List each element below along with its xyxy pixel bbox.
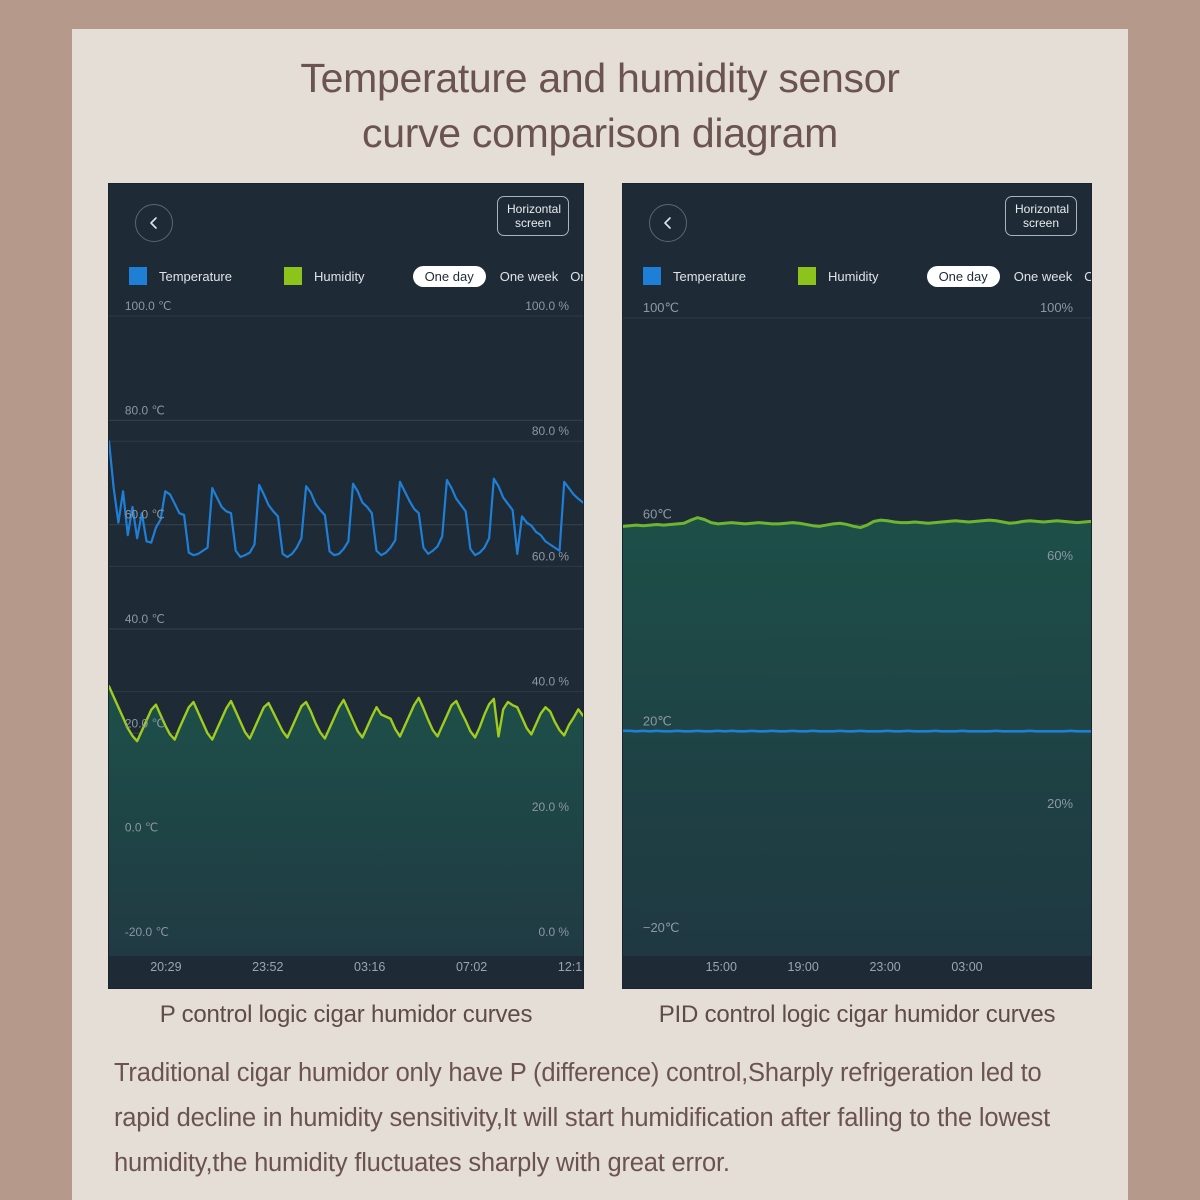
svg-text:40.0 ℃: 40.0 ℃ — [125, 612, 165, 626]
chevron-left-icon — [661, 215, 675, 231]
svg-text:20.0 ℃: 20.0 ℃ — [125, 716, 165, 730]
description-paragraph: Traditional cigar humidor only have P (d… — [72, 1029, 1128, 1186]
svg-text:20.0 %: 20.0 % — [532, 800, 570, 814]
x-tick-label: 20:29 — [150, 960, 181, 974]
x-tick-label: 03:00 — [951, 960, 982, 974]
captions-row: P control logic cigar humidor curves PID… — [72, 1001, 1128, 1029]
horizontal-screen-label-line2: screen — [507, 216, 559, 230]
horizontal-screen-button[interactable]: Horizontal screen — [1005, 196, 1077, 236]
page-title-line2: curve comparison diagram — [72, 106, 1128, 161]
legend-label-temperature: Temperature — [159, 269, 232, 284]
charts-row: Horizontal screen Temperature Humidity O… — [72, 183, 1128, 989]
left-legend-and-tabs: Temperature Humidity One day One week On… — [109, 256, 583, 296]
svg-text:80.0 %: 80.0 % — [532, 424, 570, 438]
horizontal-screen-button[interactable]: Horizontal screen — [497, 196, 569, 236]
svg-text:0.0 %: 0.0 % — [539, 925, 570, 939]
svg-text:60.0 %: 60.0 % — [532, 549, 570, 563]
svg-text:100.0 ℃: 100.0 ℃ — [125, 299, 172, 313]
humidity-swatch — [284, 267, 302, 285]
svg-text:60%: 60% — [1047, 548, 1073, 563]
svg-text:80.0 ℃: 80.0 ℃ — [125, 403, 165, 417]
tab-one-week[interactable]: One week — [1008, 269, 1079, 284]
svg-text:60℃: 60℃ — [643, 507, 672, 522]
page-title-line1: Temperature and humidity sensor — [72, 51, 1128, 106]
tab-one-week[interactable]: One week — [494, 269, 565, 284]
legend-label-humidity: Humidity — [314, 269, 365, 284]
svg-text:100℃: 100℃ — [643, 300, 679, 315]
right-x-axis: 15:0019:0023:0003:00 — [623, 956, 1091, 989]
back-button[interactable] — [649, 204, 687, 242]
svg-text:40.0 %: 40.0 % — [532, 675, 570, 689]
tab-one-month[interactable]: One month — [1078, 269, 1092, 284]
page-title: Temperature and humidity sensor curve co… — [72, 29, 1128, 161]
horizontal-screen-label-line2: screen — [1015, 216, 1067, 230]
humidity-swatch — [798, 267, 816, 285]
legend-item-humidity: Humidity — [798, 267, 879, 285]
right-chart-caption: PID control logic cigar humidor curves — [622, 1001, 1092, 1029]
left-chart-caption: P control logic cigar humidor curves — [108, 1001, 584, 1029]
left-phone-screenshot: Horizontal screen Temperature Humidity O… — [108, 183, 584, 989]
x-tick-label: 07:02 — [456, 960, 487, 974]
svg-text:60.0 ℃: 60.0 ℃ — [125, 508, 165, 522]
legend-label-temperature: Temperature — [673, 269, 746, 284]
svg-text:-20.0 ℃: -20.0 ℃ — [125, 925, 169, 939]
temperature-swatch — [129, 267, 147, 285]
temperature-swatch — [643, 267, 661, 285]
horizontal-screen-label-line1: Horizontal — [1015, 202, 1067, 216]
x-tick-label: 23:52 — [252, 960, 283, 974]
back-button[interactable] — [135, 204, 173, 242]
tab-one-month[interactable]: One month — [564, 269, 584, 284]
horizontal-screen-label-line1: Horizontal — [507, 202, 559, 216]
svg-text:20℃: 20℃ — [643, 713, 672, 728]
right-phone-screenshot: Horizontal screen Temperature Humidity O… — [622, 183, 1092, 989]
left-chart-plot[interactable]: 100.0 ℃80.0 ℃60.0 ℃40.0 ℃20.0 ℃0.0 ℃-20.… — [109, 296, 583, 956]
legend-label-humidity: Humidity — [828, 269, 879, 284]
x-tick-label: 19:00 — [788, 960, 819, 974]
svg-text:0.0 ℃: 0.0 ℃ — [125, 821, 158, 835]
svg-text:20%: 20% — [1047, 796, 1073, 811]
x-tick-label: 12:15 — [558, 960, 584, 974]
watermark — [4, 0, 94, 20]
svg-text:100.0 %: 100.0 % — [525, 299, 569, 313]
svg-text:100%: 100% — [1040, 300, 1074, 315]
right-app-header: Horizontal screen — [623, 184, 1091, 256]
chevron-left-icon — [147, 215, 161, 231]
tab-one-day[interactable]: One day — [927, 266, 1000, 287]
legend-item-humidity: Humidity — [284, 267, 365, 285]
legend-item-temperature: Temperature — [129, 267, 232, 285]
x-tick-label: 03:16 — [354, 960, 385, 974]
x-tick-label: 15:00 — [706, 960, 737, 974]
left-x-axis: 20:2923:5203:1607:0212:15 — [109, 956, 583, 989]
svg-text:−20℃: −20℃ — [643, 920, 680, 935]
left-range-tabs: One day One week One month — [413, 266, 584, 287]
legend-item-temperature: Temperature — [643, 267, 746, 285]
x-tick-label: 23:00 — [869, 960, 900, 974]
left-app-header: Horizontal screen — [109, 184, 583, 256]
content-panel: Temperature and humidity sensor curve co… — [72, 29, 1128, 1200]
right-range-tabs: One day One week One month — [927, 266, 1092, 287]
right-legend-and-tabs: Temperature Humidity One day One week On… — [623, 256, 1091, 296]
right-chart-plot[interactable]: 100℃60℃20℃−20℃ 100%60%20% — [623, 296, 1091, 956]
tab-one-day[interactable]: One day — [413, 266, 486, 287]
